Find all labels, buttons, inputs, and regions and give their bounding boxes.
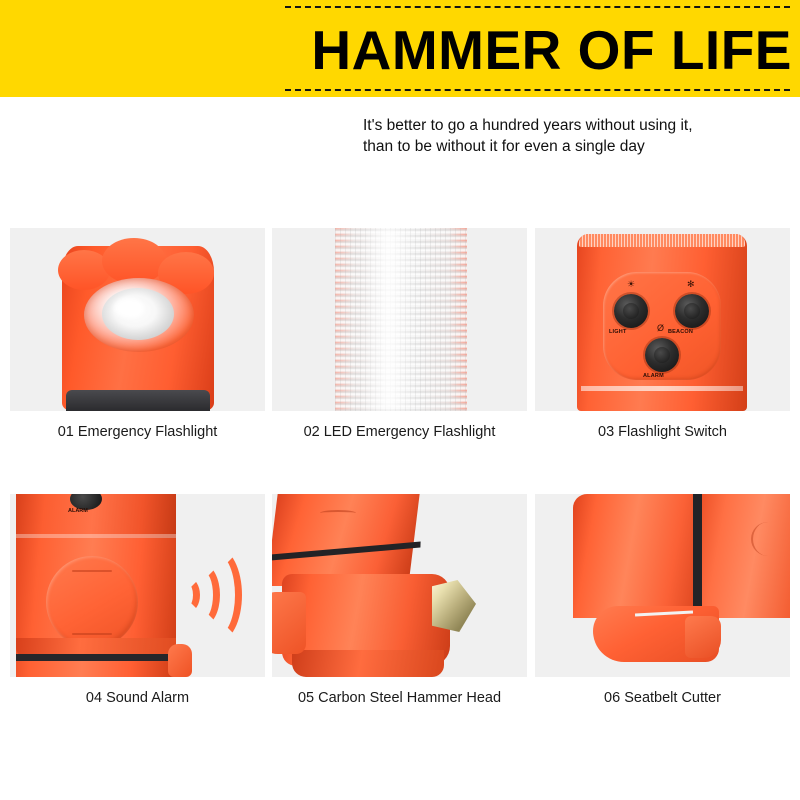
art-flashlight-head bbox=[10, 228, 265, 411]
feature-caption-04: 04 Sound Alarm bbox=[10, 690, 265, 706]
feature-caption-03: 03 Flashlight Switch bbox=[535, 424, 790, 440]
horn-icon: Ø bbox=[657, 324, 664, 333]
seatbelt-cutter-hook-partial bbox=[168, 644, 192, 677]
art-seatbelt-cutter bbox=[535, 494, 790, 677]
cutter-device-body-left bbox=[573, 494, 703, 618]
feature-photo-flashlight-head bbox=[10, 228, 265, 411]
feature-caption-05: 05 Carbon Steel Hammer Head bbox=[272, 690, 527, 706]
feature-card-01[interactable]: 01 Emergency Flashlight bbox=[10, 228, 265, 440]
sound-wave-icon-3 bbox=[194, 548, 242, 642]
hammer-side-hook bbox=[272, 592, 306, 654]
alarm-black-ring bbox=[16, 654, 176, 661]
button-label-alarm: ALARM bbox=[643, 373, 664, 379]
feature-card-03[interactable]: ☀ ✻ Ø LIGHT BEACON ALARM 03 Flashlight S… bbox=[535, 228, 790, 440]
flashlight-lobe-center bbox=[102, 238, 166, 284]
subtitle: It's better to go a hundred years withou… bbox=[363, 115, 783, 157]
header-yellow-band: HAMMER OF LIFE bbox=[0, 0, 800, 97]
hammer-shaft bbox=[272, 494, 420, 586]
feature-grid: 01 Emergency Flashlight 02 LED Emergency… bbox=[0, 228, 800, 756]
button-alarm[interactable] bbox=[645, 338, 679, 372]
button-beacon[interactable] bbox=[675, 294, 709, 328]
cutter-device-body-right bbox=[702, 494, 790, 618]
beam-icon: ✻ bbox=[687, 280, 695, 289]
feature-photo-switch-panel: ☀ ✻ Ø LIGHT BEACON ALARM bbox=[535, 228, 790, 411]
button-light[interactable] bbox=[614, 294, 648, 328]
alarm-seam-line bbox=[16, 534, 176, 538]
feature-card-05[interactable]: 05 Carbon Steel Hammer Head bbox=[272, 494, 527, 706]
seatbelt-cutter-hook-tip bbox=[685, 616, 721, 658]
feature-caption-01: 01 Emergency Flashlight bbox=[10, 424, 265, 440]
led-lens-glow bbox=[360, 228, 418, 411]
speaker-slot-bottom bbox=[72, 633, 112, 635]
art-sound-alarm: ALARM bbox=[10, 494, 265, 677]
feature-card-06[interactable]: 06 Seatbelt Cutter bbox=[535, 494, 790, 706]
feature-photo-sound-alarm: ALARM bbox=[10, 494, 265, 677]
flashlight-base-collar bbox=[66, 390, 210, 411]
device-seam-line bbox=[581, 386, 743, 391]
cutter-body-arc-detail bbox=[751, 522, 785, 556]
subtitle-line-1: It's better to go a hundred years withou… bbox=[363, 115, 783, 136]
alarm-top-button-label: ALARM bbox=[68, 508, 88, 514]
subtitle-line-2: than to be without it for even a single … bbox=[363, 136, 783, 157]
cutter-black-band bbox=[693, 494, 702, 612]
carbon-steel-tip bbox=[432, 580, 476, 632]
device-ribbed-cap bbox=[579, 234, 745, 247]
page-title: HAMMER OF LIFE bbox=[285, 14, 792, 86]
art-hammer-head bbox=[272, 494, 527, 677]
feature-row-1: 01 Emergency Flashlight 02 LED Emergency… bbox=[0, 228, 800, 490]
hammer-shaft-notch bbox=[320, 510, 356, 516]
bulb-icon: ☀ bbox=[627, 280, 635, 289]
feature-caption-06: 06 Seatbelt Cutter bbox=[535, 690, 790, 706]
lens-specular-highlight bbox=[114, 298, 144, 318]
feature-card-04[interactable]: ALARM 04 Sound Alarm bbox=[10, 494, 265, 706]
art-switch-panel: ☀ ✻ Ø LIGHT BEACON ALARM bbox=[535, 228, 790, 411]
dashed-rule-top bbox=[285, 6, 790, 8]
feature-card-02[interactable]: 02 LED Emergency Flashlight bbox=[272, 228, 527, 440]
button-label-beacon: BEACON bbox=[668, 329, 693, 335]
feature-photo-seatbelt-cutter bbox=[535, 494, 790, 677]
feature-caption-02: 02 LED Emergency Flashlight bbox=[272, 424, 527, 440]
button-label-light: LIGHT bbox=[609, 329, 627, 335]
speaker-slot-top bbox=[72, 570, 112, 572]
art-ribbed-lens bbox=[272, 228, 527, 411]
feature-row-2: ALARM 04 Sound Alarm bbox=[0, 494, 800, 756]
hammer-head-base bbox=[292, 650, 444, 677]
dashed-rule-bottom bbox=[285, 89, 790, 91]
feature-photo-hammer-head bbox=[272, 494, 527, 677]
feature-photo-ribbed-lens bbox=[272, 228, 527, 411]
